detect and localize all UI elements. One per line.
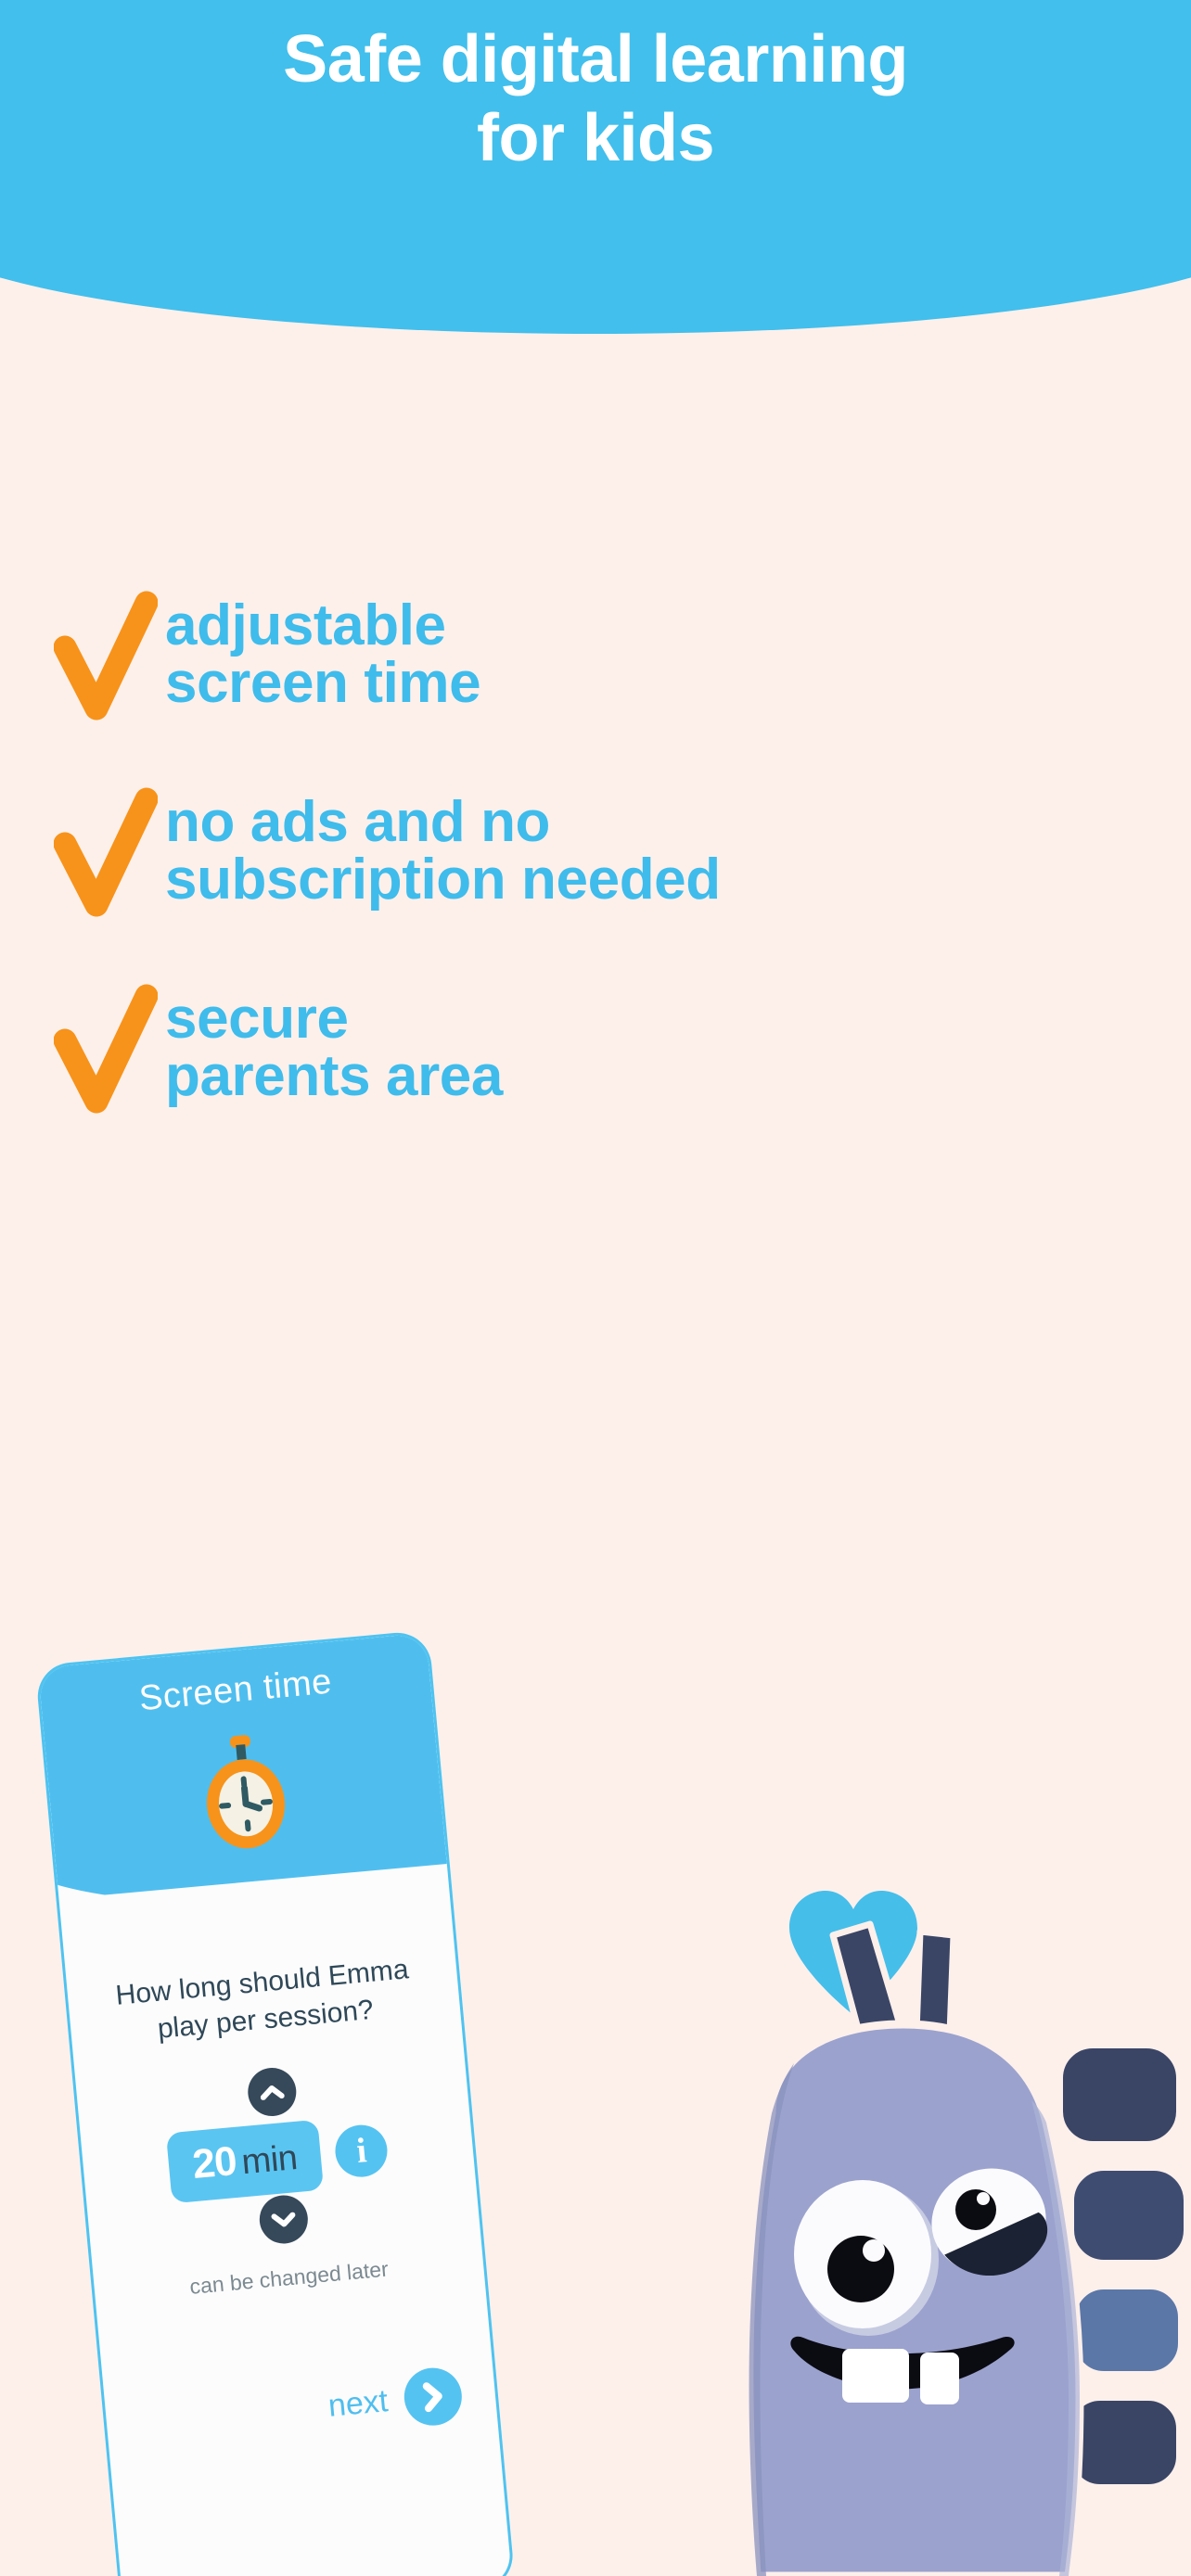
screen-time-amount: 20 bbox=[191, 2138, 238, 2188]
feature-list: adjustable screen time no ads and no sub… bbox=[0, 584, 1191, 1174]
monster-mascot bbox=[705, 1915, 1191, 2576]
checkmark-icon bbox=[54, 983, 158, 1122]
list-item: no ads and no subscription needed bbox=[0, 781, 1191, 925]
chevron-up-icon bbox=[260, 2084, 285, 2099]
helper-text: can be changed later bbox=[94, 2248, 484, 2308]
info-icon-label: i bbox=[355, 2130, 369, 2172]
quantity-stepper-value[interactable]: 20 min bbox=[166, 2120, 325, 2204]
screen-time-card: Screen time How long should Emma play pe… bbox=[38, 1633, 513, 2576]
chevron-right-icon bbox=[417, 2379, 448, 2414]
list-item-label: secure parents area bbox=[158, 977, 503, 1105]
screen-time-unit: min bbox=[240, 2138, 299, 2183]
page-title: Safe digital learning for kids bbox=[0, 20, 1191, 178]
card-question-text: How long should Emma play per session? bbox=[67, 1947, 462, 2057]
next-label: next bbox=[327, 2383, 390, 2425]
next-button[interactable] bbox=[402, 2366, 464, 2428]
checkmark-icon bbox=[54, 786, 158, 925]
quantity-stepper-increase[interactable] bbox=[246, 2066, 298, 2118]
app-promo-screen: Safe digital learning for kids adjustabl… bbox=[0, 0, 1191, 2576]
list-item-label: no ads and no subscription needed bbox=[158, 781, 721, 909]
header-banner: Safe digital learning for kids bbox=[0, 0, 1191, 352]
next-action[interactable]: next bbox=[326, 2366, 464, 2435]
list-item: secure parents area bbox=[0, 977, 1191, 1122]
stopwatch-icon bbox=[188, 1729, 301, 1863]
chevron-down-icon bbox=[271, 2212, 296, 2227]
list-item-label: adjustable screen time bbox=[158, 584, 480, 712]
checkmark-icon bbox=[54, 590, 158, 729]
list-item: adjustable screen time bbox=[0, 584, 1191, 729]
quantity-stepper-decrease[interactable] bbox=[258, 2193, 310, 2245]
info-icon[interactable]: i bbox=[333, 2123, 390, 2179]
